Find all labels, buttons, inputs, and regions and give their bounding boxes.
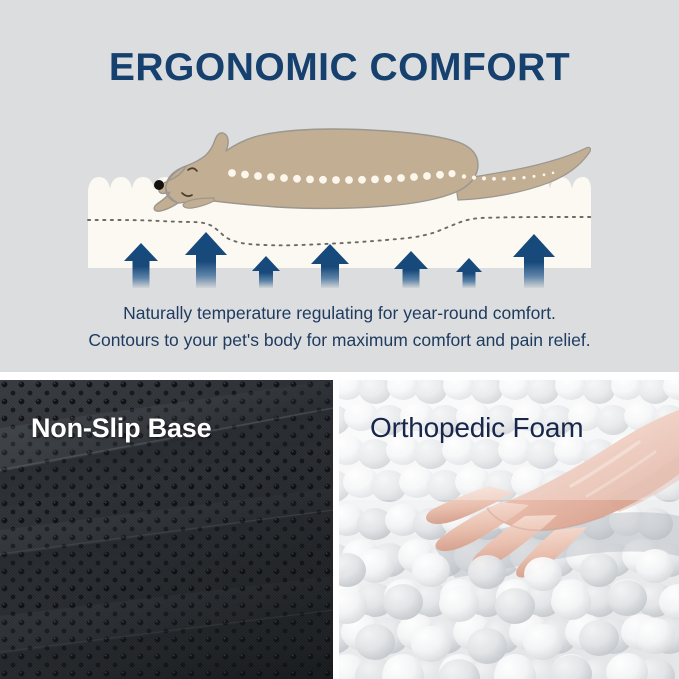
dog-nose <box>154 180 164 190</box>
caption-line-1: Naturally temperature regulating for yea… <box>0 300 679 327</box>
non-slip-base-label: Non-Slip Base <box>31 413 211 444</box>
orthopedic-foam-panel: Orthopedic Foam <box>339 380 679 679</box>
page-title: ERGONOMIC COMFORT <box>0 46 679 90</box>
orthopedic-foam-label: Orthopedic Foam <box>370 412 583 444</box>
caption-text: Naturally temperature regulating for yea… <box>0 300 679 354</box>
feature-panels-row: Non-Slip Base <box>0 380 679 679</box>
ergonomic-comfort-panel: ERGONOMIC COMFORT <box>0 0 679 372</box>
caption-line-2: Contours to your pet's body for maximum … <box>0 327 679 354</box>
ergonomic-diagram <box>0 108 679 288</box>
non-slip-base-panel: Non-Slip Base <box>0 380 333 679</box>
infographic-root: ERGONOMIC COMFORT <box>0 0 679 679</box>
